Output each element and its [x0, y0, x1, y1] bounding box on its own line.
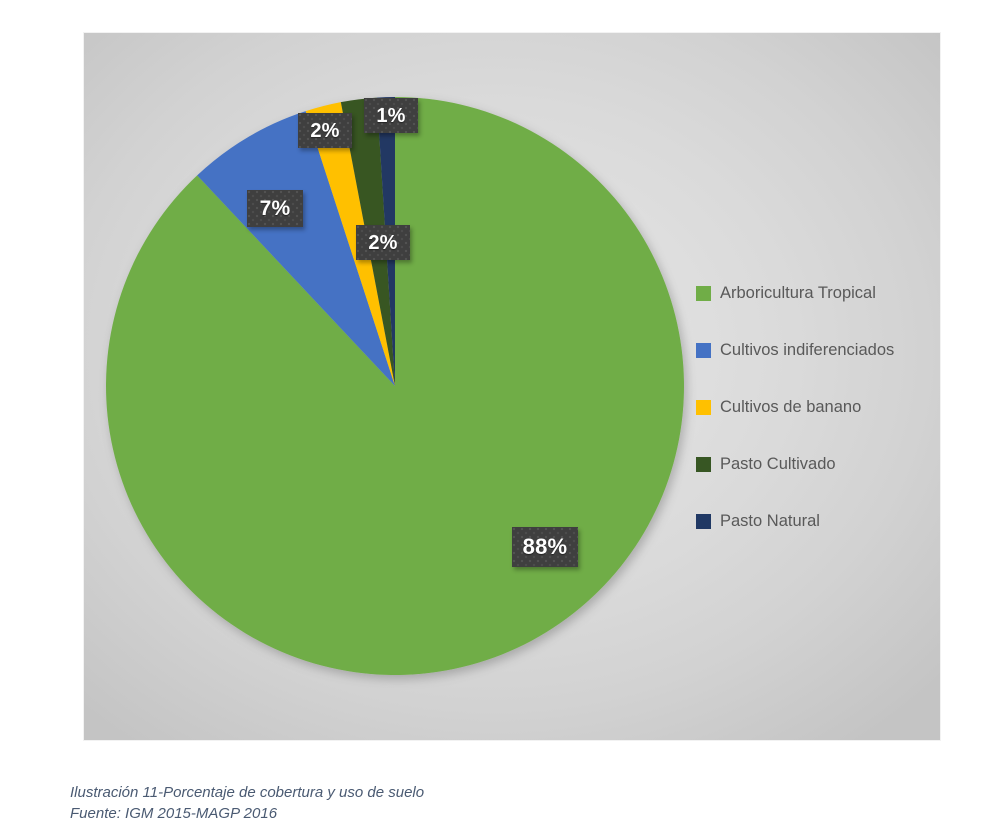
pie-slice[interactable] — [106, 97, 684, 675]
legend-item-pasto-cultivado[interactable]: Pasto Cultivado — [696, 436, 936, 493]
pie-slice-group — [106, 97, 684, 675]
chart-legend: Arboricultura Tropical Cultivos indifere… — [696, 265, 936, 550]
chart-plot-area: 88% 7% 2% 2% 1% Arboricultura Tropical C… — [84, 33, 940, 740]
data-label-cultivos-indiferenciados: 7% — [247, 190, 303, 227]
figure-pie-land-cover: 88% 7% 2% 2% 1% Arboricultura Tropical C… — [0, 0, 1000, 834]
legend-item-cultivos-indiferenciados[interactable]: Cultivos indiferenciados — [696, 322, 936, 379]
legend-item-label: Cultivos de banano — [720, 398, 861, 417]
legend-swatch-icon — [696, 514, 711, 529]
legend-swatch-icon — [696, 343, 711, 358]
data-label-pasto-natural: 1% — [364, 98, 418, 133]
caption-line-source: Fuente: IGM 2015-MAGP 2016 — [70, 803, 424, 824]
legend-item-label: Pasto Cultivado — [720, 455, 836, 474]
legend-item-label: Pasto Natural — [720, 512, 820, 531]
legend-item-cultivos-de-banano[interactable]: Cultivos de banano — [696, 379, 936, 436]
data-label-arboricultura-tropical: 88% — [512, 527, 578, 567]
legend-item-arboricultura-tropical[interactable]: Arboricultura Tropical — [696, 265, 936, 322]
legend-item-label: Arboricultura Tropical — [720, 284, 876, 303]
data-label-cultivos-de-banano: 2% — [298, 113, 352, 148]
legend-swatch-icon — [696, 400, 711, 415]
legend-item-pasto-natural[interactable]: Pasto Natural — [696, 493, 936, 550]
legend-item-label: Cultivos indiferenciados — [720, 341, 894, 360]
legend-swatch-icon — [696, 286, 711, 301]
caption-line-title: Ilustración 11-Porcentaje de cobertura y… — [70, 782, 424, 803]
legend-swatch-icon — [696, 457, 711, 472]
figure-caption: Ilustración 11-Porcentaje de cobertura y… — [70, 782, 424, 824]
data-label-pasto-cultivado: 2% — [356, 225, 410, 260]
